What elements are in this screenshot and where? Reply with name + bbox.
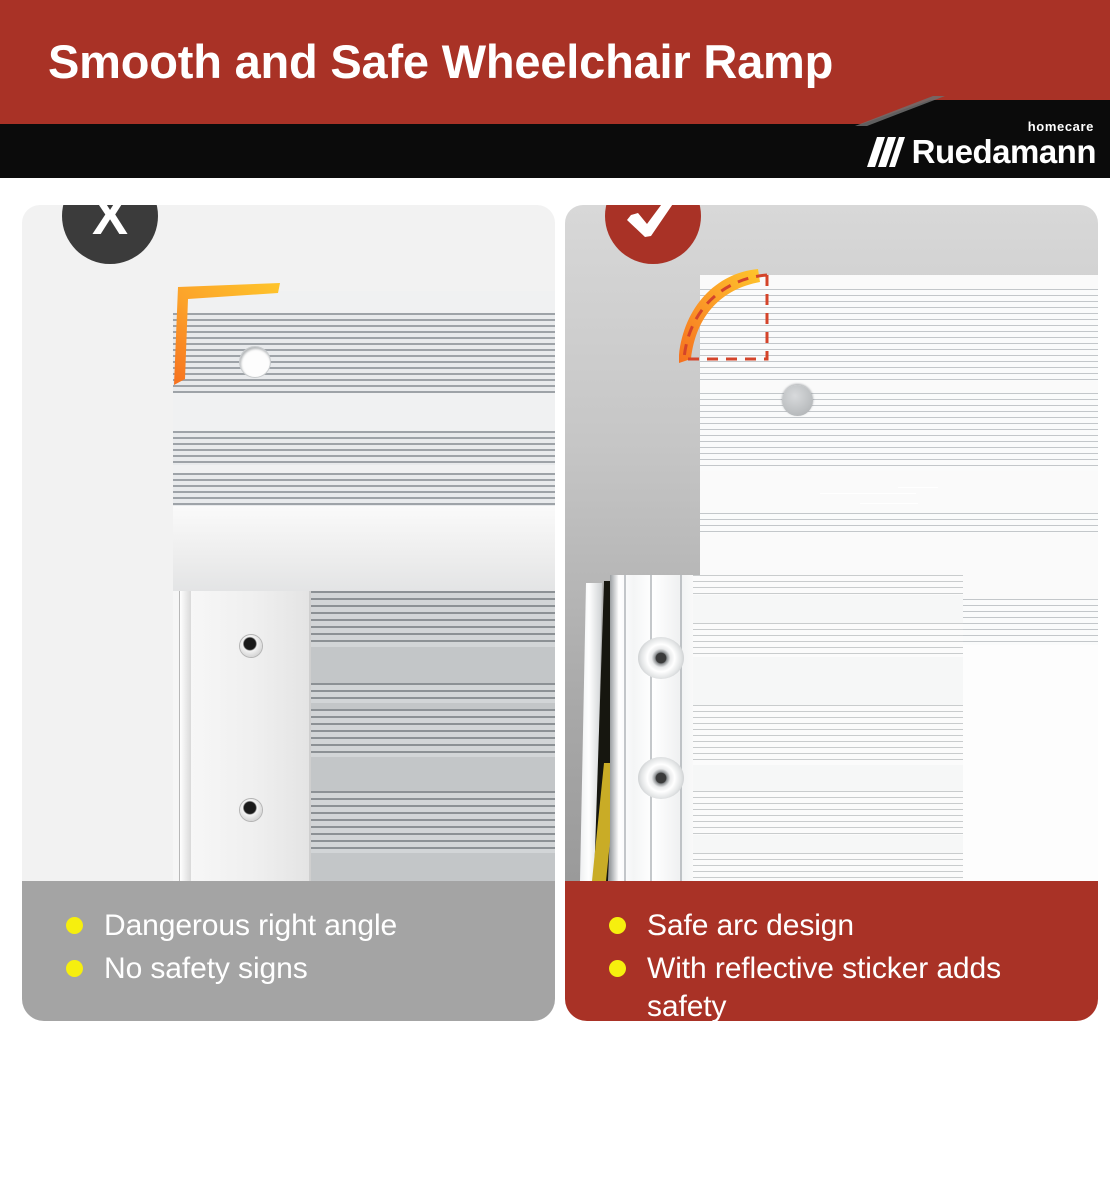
ribbed-deck (693, 575, 963, 881)
mounting-hole (240, 347, 270, 377)
ramp-top-surface (173, 291, 555, 506)
side-rail (191, 591, 311, 881)
countersunk-screw-icon (638, 757, 684, 799)
bullet-dot-icon (66, 960, 83, 977)
list-item: With reflective sticker adds safety (587, 950, 1076, 1026)
ramp-lower-section (173, 591, 555, 881)
bullet-dot-icon (609, 960, 626, 977)
caption-negative: Dangerous right angle No safety signs (22, 881, 555, 1021)
check-glyph (625, 205, 681, 241)
rail-outer-edge (179, 591, 191, 881)
comparison-panels: X Dangerous right angle No safety signs (0, 178, 1110, 1034)
brand-name: Ruedamann (912, 135, 1096, 169)
panel-positive: Safe arc design With reflective sticker … (565, 205, 1098, 1198)
screw-head (240, 799, 262, 821)
bullet-label: No safety signs (104, 950, 308, 988)
caption-positive: Safe arc design With reflective sticker … (565, 881, 1098, 1021)
ramp-mid-plate (173, 506, 555, 591)
bullet-dot-icon (609, 917, 626, 934)
header-banner: Smooth and Safe Wheelchair Ramp homecare… (0, 0, 1110, 178)
side-rail-with-reflective-sticker (580, 575, 705, 881)
list-item: Dangerous right angle (44, 907, 533, 945)
triple-slash-logo-icon (867, 137, 905, 167)
bullet-label: Dangerous right angle (104, 907, 397, 945)
bullet-dot-icon (66, 917, 83, 934)
ribbed-deck (311, 591, 555, 881)
x-glyph: X (92, 205, 128, 243)
panel-negative: X Dangerous right angle No safety signs (22, 205, 555, 1198)
bullet-label: Safe arc design (647, 907, 854, 945)
page-title: Smooth and Safe Wheelchair Ramp (48, 30, 1068, 94)
x-mark-icon: X (62, 205, 158, 264)
list-item: Safe arc design (587, 907, 1076, 945)
brand-logo-row: Ruedamann (867, 135, 1096, 169)
product-photo-square-corner: X (22, 205, 555, 881)
bullet-label: With reflective sticker adds safety (647, 950, 1076, 1026)
list-item: No safety signs (44, 950, 533, 988)
brand-logo: homecare Ruedamann (867, 118, 1096, 170)
product-photo-rounded-corner (565, 205, 1098, 881)
countersunk-screw-icon (638, 637, 684, 679)
brand-tagline: homecare (1028, 120, 1094, 134)
mounting-hole (782, 385, 813, 416)
checkmark-icon (605, 205, 701, 264)
screw-head (240, 635, 262, 657)
